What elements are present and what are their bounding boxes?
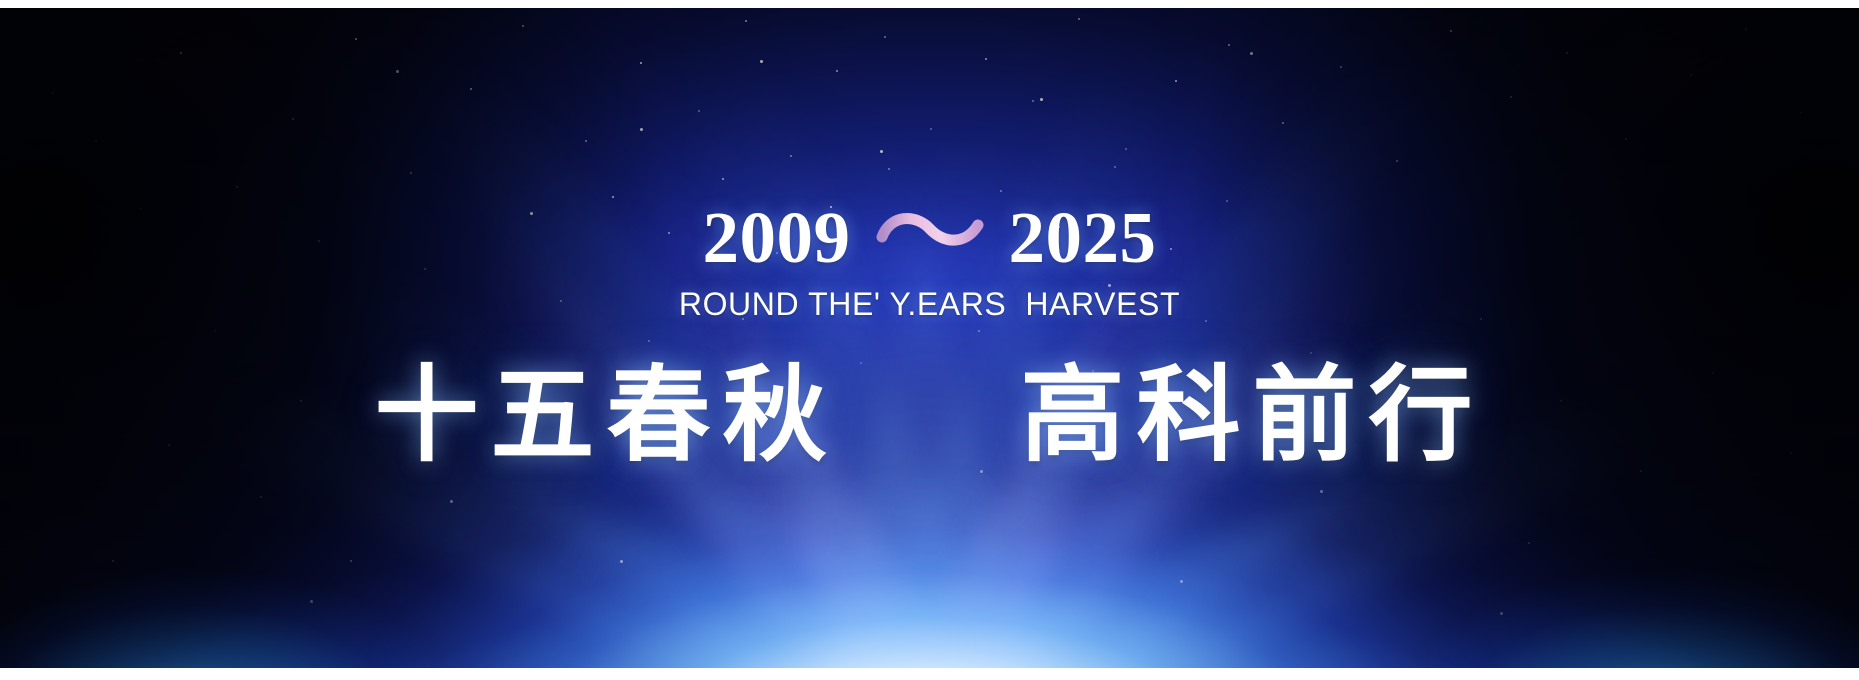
year-end: 2025: [1009, 201, 1157, 274]
white-top-strip: [0, 0, 1859, 8]
anniversary-hero-banner: 2009 2025 ROUND THE' Y.EARS HA: [0, 0, 1859, 680]
slogan-right: 高科前行: [1021, 354, 1485, 477]
year-range: 2009 2025: [703, 196, 1157, 278]
year-start: 2009: [703, 201, 851, 274]
banner-content: 2009 2025 ROUND THE' Y.EARS HA: [0, 0, 1859, 680]
slogan-row: 十五春秋 高科前行: [374, 354, 1484, 477]
white-bottom-strip: [0, 668, 1859, 680]
subtitle-text: ROUND THE' Y.EARS HARVEST: [679, 288, 1180, 320]
slogan-left: 十五春秋: [374, 354, 838, 477]
wave-tilde-icon: [877, 203, 985, 263]
